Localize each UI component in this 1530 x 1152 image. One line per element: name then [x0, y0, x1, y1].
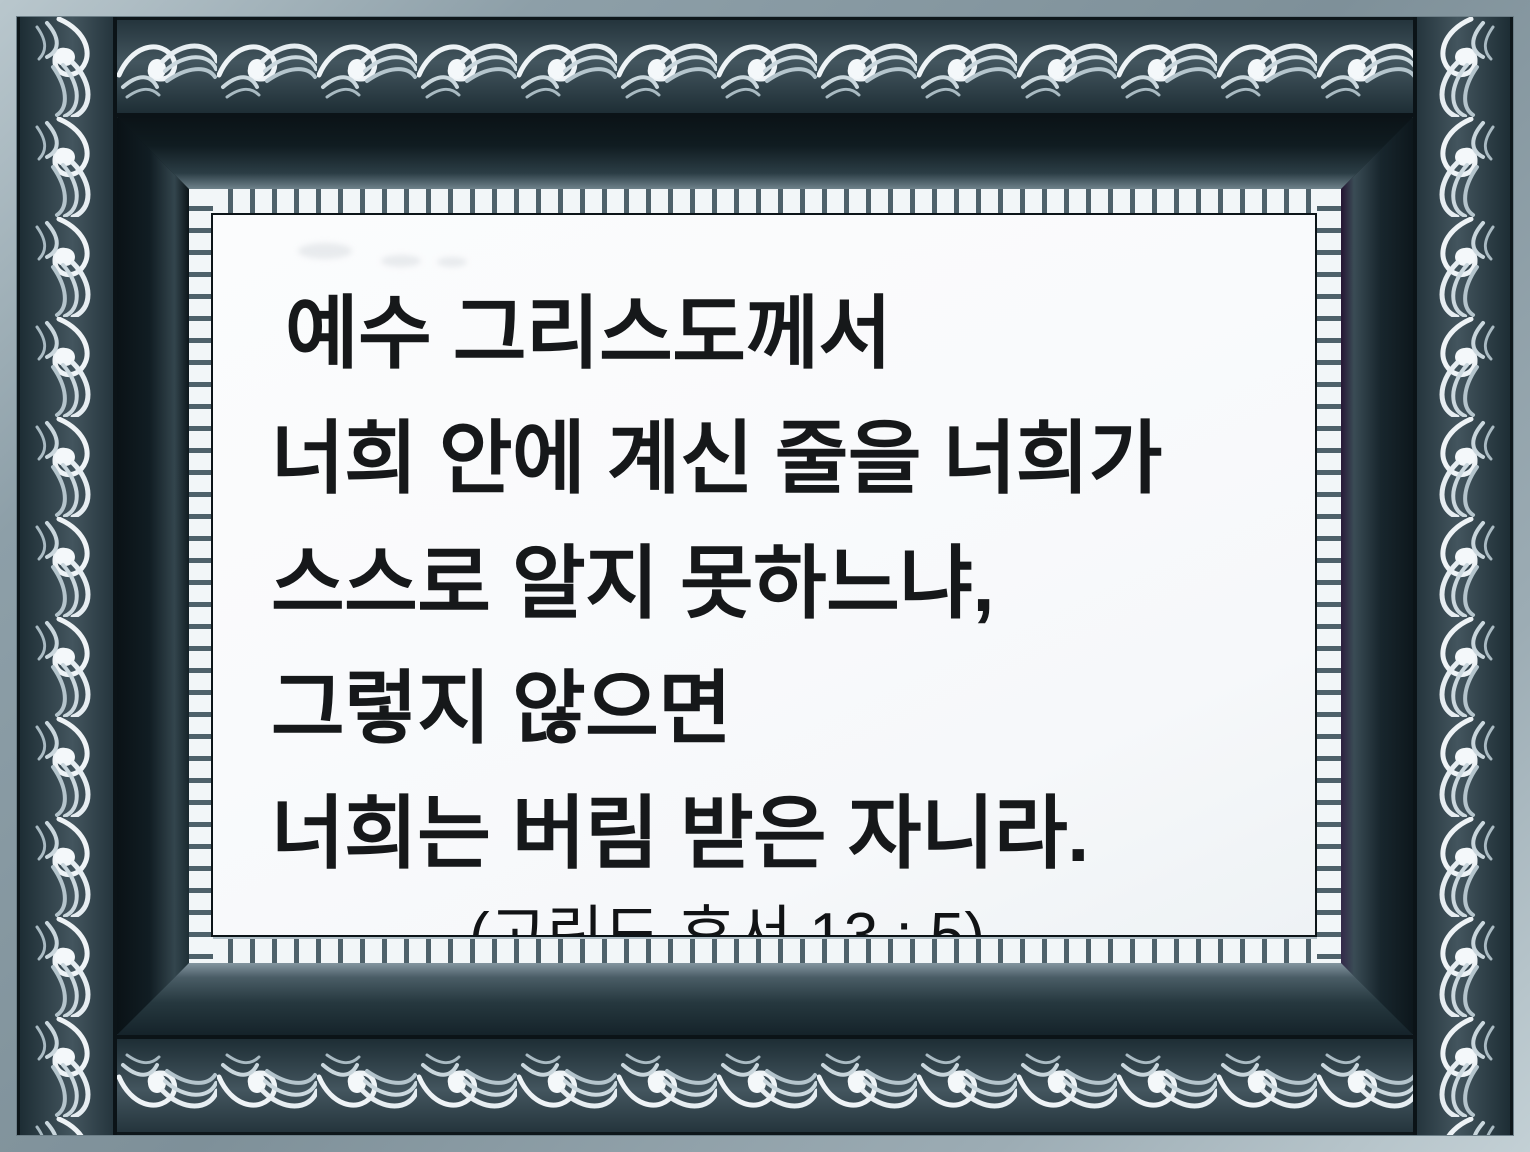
framed-scripture-artwork: 예수 그리스도께서 너희 안에 계신 줄을 너희가 스스로 알지 못하느냐, 그… [0, 0, 1530, 1152]
acanthus-scroll-bottom [17, 1035, 1513, 1135]
bevel-left [117, 117, 189, 1035]
acanthus-scroll-right [1413, 17, 1513, 1135]
beaded-molding-left [189, 189, 213, 963]
beaded-molding-right [1317, 189, 1341, 963]
verse-line-2: 너희 안에 계신 줄을 너희가 [213, 396, 1315, 521]
scripture-reference: (고린도 후서 13 : 5) [213, 900, 1315, 935]
verse-line-5: 너희는 버림 받은 자니라. [213, 771, 1315, 896]
verse-text-block: 예수 그리스도께서 너희 안에 계신 줄을 너희가 스스로 알지 못하느냐, 그… [213, 215, 1315, 935]
bevel-bottom [117, 963, 1413, 1035]
acanthus-scroll-top [17, 17, 1513, 117]
acanthus-scroll-left [17, 17, 117, 1135]
verse-mat: 예수 그리스도께서 너희 안에 계신 줄을 너희가 스스로 알지 못하느냐, 그… [213, 215, 1315, 935]
verse-line-1: 예수 그리스도께서 [213, 271, 1315, 396]
verse-line-4: 그렇지 않으면 [213, 646, 1315, 771]
beaded-molding-bottom [189, 939, 1341, 963]
bevel-right [1341, 117, 1413, 1035]
bevel-top [117, 117, 1413, 189]
beaded-molding-top [189, 189, 1341, 213]
verse-line-3: 스스로 알지 못하느냐, [213, 521, 1315, 646]
